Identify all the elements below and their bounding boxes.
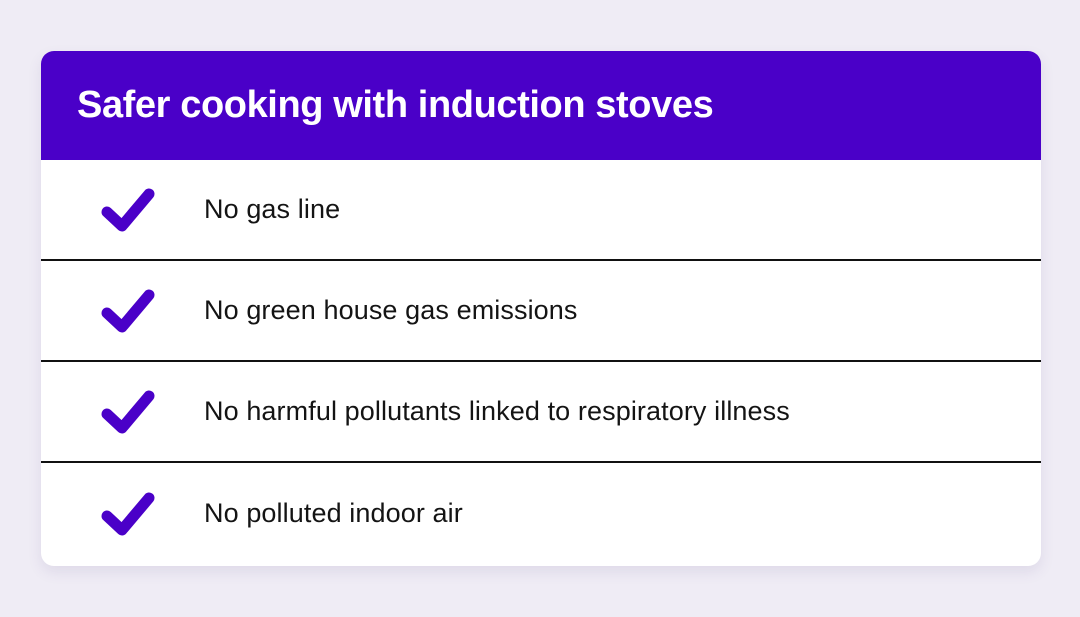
check-icon	[101, 288, 155, 334]
page-root: Safer cooking with induction stoves No g…	[0, 0, 1080, 617]
feature-label: No harmful pollutants linked to respirat…	[204, 395, 790, 427]
check-cell	[41, 187, 204, 233]
list-item: No green house gas emissions	[41, 261, 1041, 362]
list-item: No gas line	[41, 160, 1041, 261]
check-cell	[41, 288, 204, 334]
card-header: Safer cooking with induction stoves	[41, 51, 1041, 160]
feature-label: No gas line	[204, 193, 340, 225]
feature-label: No green house gas emissions	[204, 294, 578, 326]
check-cell	[41, 491, 204, 537]
induction-stove-benefits-card: Safer cooking with induction stoves No g…	[41, 51, 1041, 566]
list-item: No harmful pollutants linked to respirat…	[41, 362, 1041, 463]
page-title: Safer cooking with induction stoves	[77, 86, 713, 126]
list-item: No polluted indoor air	[41, 463, 1041, 564]
check-cell	[41, 389, 204, 435]
check-icon	[101, 187, 155, 233]
feature-label: No polluted indoor air	[204, 497, 463, 529]
check-icon	[101, 491, 155, 537]
feature-list: No gas line No green house gas emissions…	[41, 160, 1041, 564]
check-icon	[101, 389, 155, 435]
